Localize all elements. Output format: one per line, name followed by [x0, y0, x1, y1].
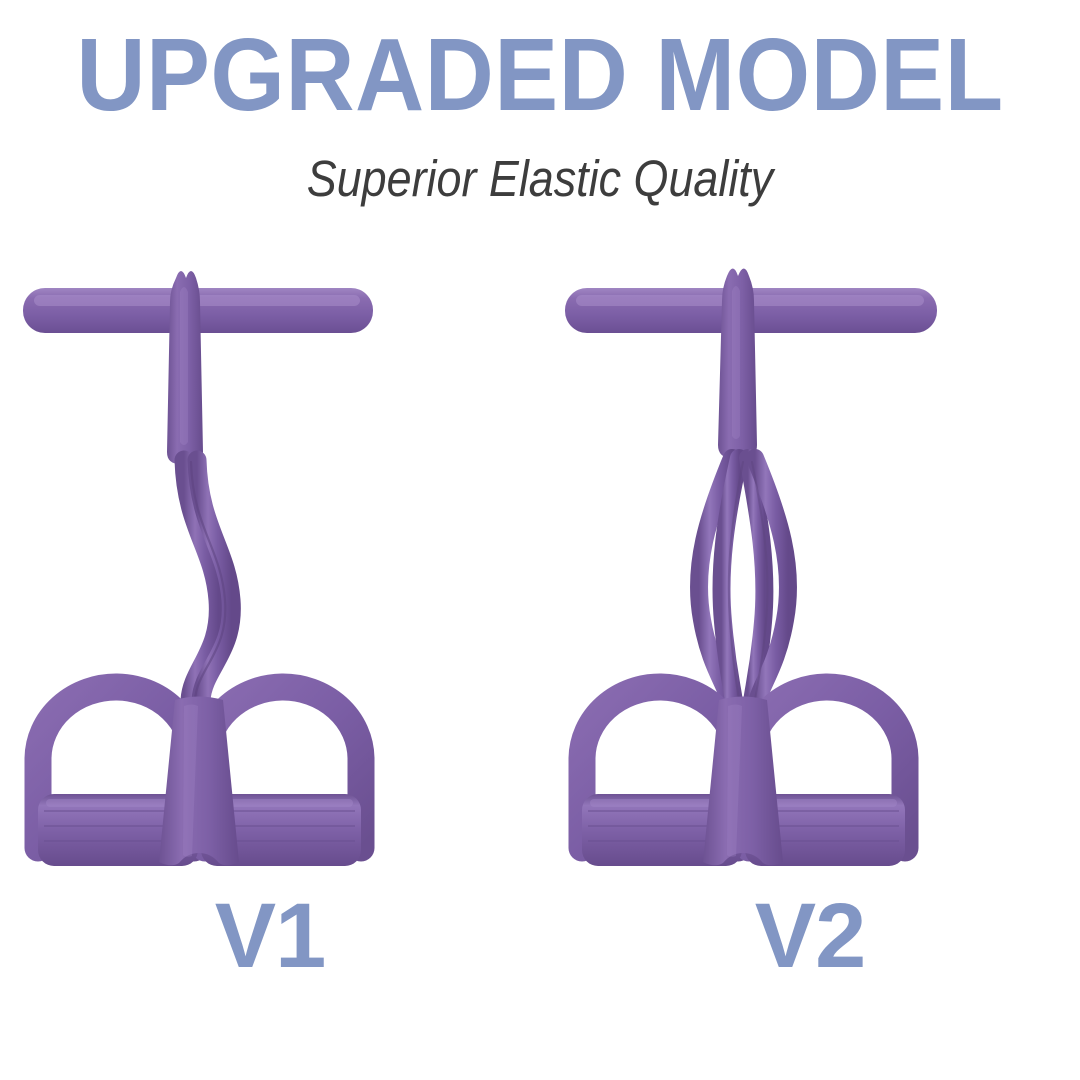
product-comparison-page: UPGRADED MODEL Superior Elastic Quality — [0, 0, 1080, 1080]
v1-pedal-assembly — [38, 687, 361, 866]
product-comparison-row — [0, 248, 1080, 908]
page-subtitle: Superior Elastic Quality — [65, 127, 1015, 204]
v2-elastic-tubes — [699, 458, 788, 702]
label-cell-v1: V1 — [0, 890, 540, 1010]
version-label-v2: V2 — [755, 885, 866, 987]
product-v2 — [540, 248, 1080, 908]
label-cell-v2: V2 — [540, 890, 1080, 1010]
version-label-v1: V1 — [215, 885, 326, 987]
v2-handle-connector — [718, 269, 757, 459]
header: UPGRADED MODEL Superior Elastic Quality — [0, 0, 1080, 204]
version-labels: V1 V2 — [0, 890, 1080, 1010]
v2-pedal-assembly — [582, 687, 905, 866]
product-v1 — [0, 248, 540, 908]
v1-handle-connector — [167, 271, 203, 464]
page-title: UPGRADED MODEL — [38, 0, 1042, 127]
v1-elastic-tube — [184, 460, 231, 700]
